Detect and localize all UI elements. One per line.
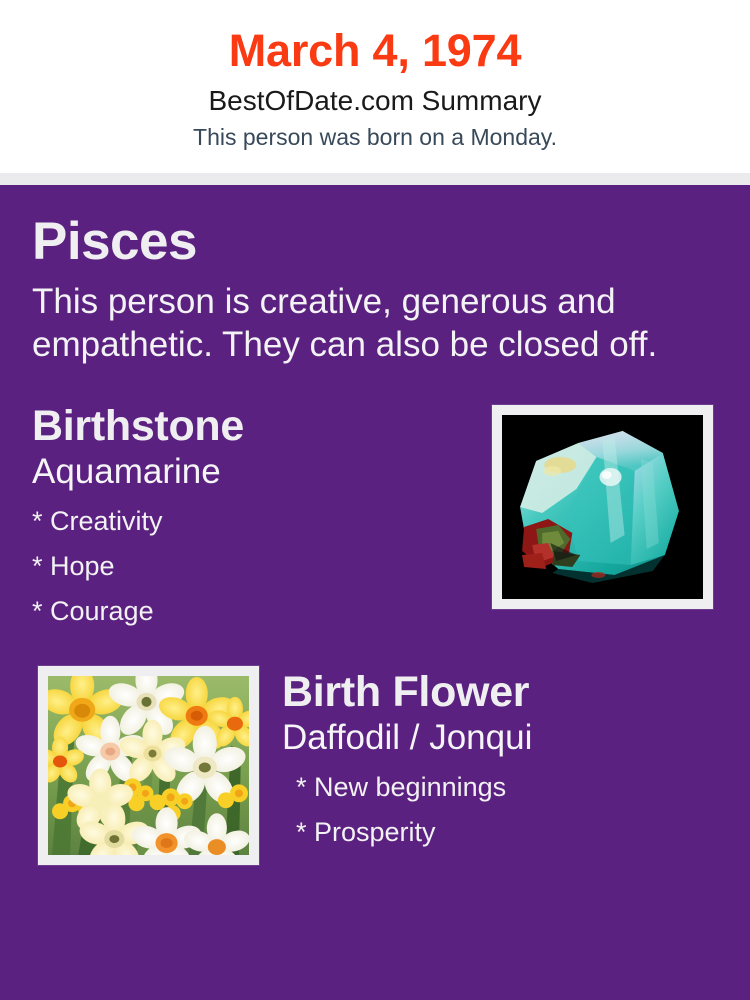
list-item: * Prosperity — [282, 810, 742, 855]
zodiac-description: This person is creative, generous and em… — [32, 280, 712, 366]
birth-flower-section: Birth Flower Daffodil / Jonqui * New beg… — [32, 666, 718, 876]
birth-flower-title: Birth Flower — [282, 666, 742, 718]
site-name: BestOfDate.com Summary — [0, 82, 750, 120]
list-item: * Hope — [32, 544, 472, 589]
details-panel: Pisces This person is creative, generous… — [0, 185, 750, 1000]
birthstone-title: Birthstone — [32, 400, 472, 452]
birthstone-image-frame — [492, 405, 713, 609]
list-item: * Courage — [32, 589, 472, 634]
birth-flower-image-frame — [38, 666, 259, 865]
birth-flower-name: Daffodil / Jonqui — [282, 717, 742, 759]
birthstone-text-group: Birthstone Aquamarine * Creativity * Hop… — [32, 400, 472, 634]
list-item: * New beginnings — [282, 765, 742, 810]
birthstone-trait-list: * Creativity * Hope * Courage — [32, 499, 472, 634]
card-header: March 4, 1974 BestOfDate.com Summary Thi… — [0, 0, 750, 173]
summary-card: March 4, 1974 BestOfDate.com Summary Thi… — [0, 0, 750, 1000]
list-item: * Creativity — [32, 499, 472, 544]
birthstone-name: Aquamarine — [32, 451, 472, 493]
birthstone-section: Birthstone Aquamarine * Creativity * Hop… — [32, 400, 718, 634]
birthstone-image — [502, 415, 703, 599]
birth-flower-trait-list: * New beginnings * Prosperity — [282, 765, 742, 855]
birth-flower-image — [48, 676, 249, 855]
zodiac-sign-title: Pisces — [32, 185, 718, 273]
daffodil-flowers-icon — [48, 676, 249, 855]
header-divider — [0, 173, 750, 185]
birth-day-of-week-text: This person was born on a Monday. — [0, 121, 750, 153]
page-title-date: March 4, 1974 — [0, 22, 750, 80]
aquamarine-crystal-icon — [502, 415, 703, 599]
birth-flower-text-group: Birth Flower Daffodil / Jonqui * New beg… — [282, 666, 742, 855]
